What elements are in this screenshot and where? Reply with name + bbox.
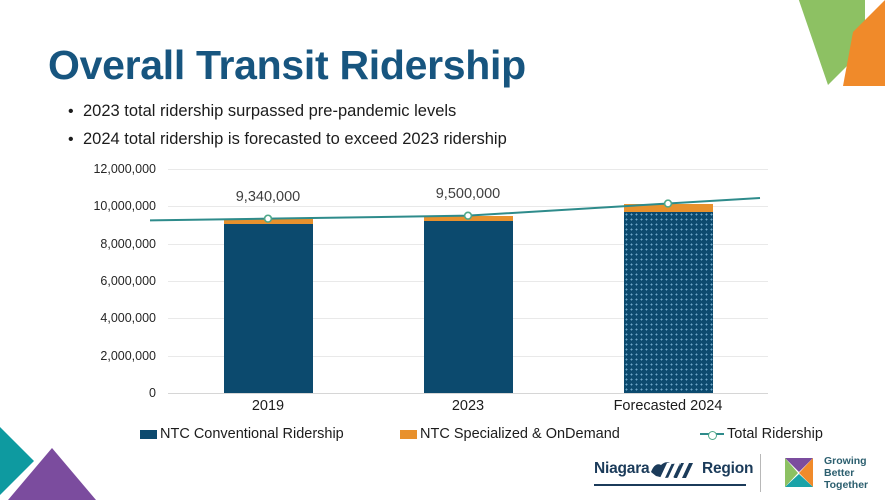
bullet-list: • 2023 total ridership surpassed pre-pan…: [68, 100, 768, 156]
niagara-flag-icon: [650, 458, 698, 480]
niagara-region-logo: Niagara Region: [594, 456, 746, 490]
legend-item[interactable]: Total Ridership: [700, 426, 823, 442]
legend-item[interactable]: NTC Specialized & OnDemand: [400, 426, 620, 442]
growing-better-together-icon: [780, 454, 818, 492]
y-axis-tick-label: 8,000,000: [6, 237, 156, 251]
logo-divider: [760, 454, 761, 492]
gbt-tagline-line2: Better: [824, 467, 868, 479]
list-item: • 2023 total ridership surpassed pre-pan…: [68, 100, 768, 123]
page-title: Overall Transit Ridership: [48, 42, 526, 89]
ridership-chart: 12,000,00010,000,0008,000,0006,000,0004,…: [0, 158, 885, 448]
line-data-point[interactable]: [665, 200, 672, 207]
niagara-logo-word2: Region: [702, 460, 753, 478]
x-axis-tick-label: 2019: [178, 398, 358, 414]
legend-item-label: NTC Conventional Ridership: [160, 426, 344, 442]
corner-shapes-top-right-svg: [765, 0, 885, 100]
legend-color-swatch-icon: [400, 430, 417, 439]
y-axis-tick-label: 6,000,000: [6, 274, 156, 288]
y-axis-tick-label: 12,000,000: [6, 162, 156, 176]
niagara-logo-underline: [594, 484, 746, 486]
legend-item-label: Total Ridership: [727, 426, 823, 442]
y-axis-tick-label: 2,000,000: [6, 349, 156, 363]
y-axis-labels: 12,000,00010,000,0008,000,0006,000,0004,…: [0, 158, 160, 396]
gbt-tagline-line3: Together: [824, 479, 868, 491]
line-data-point[interactable]: [265, 215, 272, 222]
y-axis-tick-label: 0: [6, 386, 156, 400]
x-axis-baseline: [168, 393, 768, 394]
legend-item[interactable]: NTC Conventional Ridership: [140, 426, 344, 442]
gbt-tagline: Growing Better Together: [824, 455, 868, 492]
x-axis-labels: 20192023Forecasted 2024: [168, 398, 768, 422]
x-axis-tick-label: 2023: [378, 398, 558, 414]
chart-legend: NTC Conventional RidershipNTC Specialize…: [140, 426, 800, 452]
bullet-dot-icon: •: [68, 128, 83, 151]
footer-logos: Niagara Region Growing Better Together: [594, 452, 854, 496]
niagara-logo-word1: Niagara: [594, 460, 649, 478]
y-axis-tick-label: 10,000,000: [6, 199, 156, 213]
bullet-text: 2024 total ridership is forecasted to ex…: [83, 128, 507, 151]
bullet-text: 2023 total ridership surpassed pre-pande…: [83, 100, 456, 123]
decorative-corner-top-right: [765, 0, 885, 100]
legend-color-swatch-icon: [140, 430, 157, 439]
list-item: • 2024 total ridership is forecasted to …: [68, 128, 768, 151]
legend-item-label: NTC Specialized & OnDemand: [420, 426, 620, 442]
gbt-tagline-line1: Growing: [824, 455, 868, 467]
total-ridership-line-svg: [168, 158, 768, 394]
plot-area: 9,340,0009,500,000: [168, 158, 768, 394]
y-axis-tick-label: 4,000,000: [6, 311, 156, 325]
line-data-point[interactable]: [465, 212, 472, 219]
legend-line-swatch-icon: [700, 429, 724, 439]
x-axis-tick-label: Forecasted 2024: [578, 398, 758, 414]
bullet-dot-icon: •: [68, 100, 83, 123]
